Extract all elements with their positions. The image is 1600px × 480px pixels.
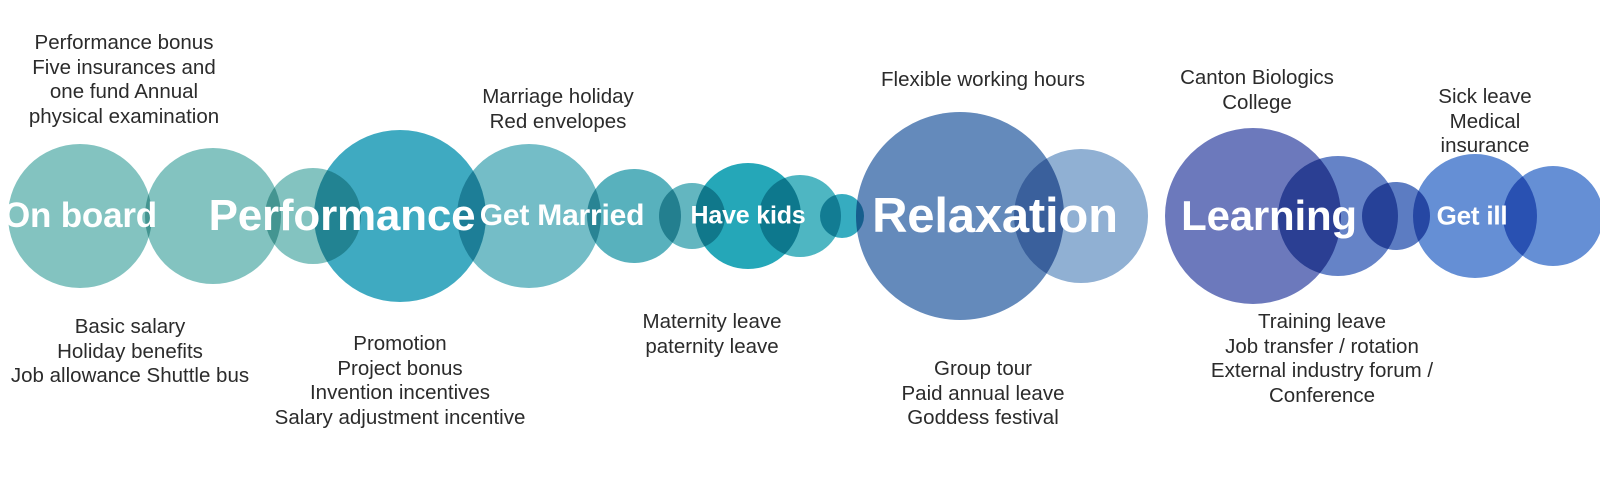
top-caption-learning: Canton Biologics College	[1180, 66, 1334, 115]
top-caption-relaxation: Flexible working hours	[881, 68, 1085, 93]
stage-label-on-board[interactable]: On board	[3, 196, 157, 236]
bottom-caption-relaxation: Group tour Paid annual leave Goddess fes…	[902, 357, 1065, 431]
bottom-caption-learning: Training leave Job transfer / rotation E…	[1183, 310, 1461, 408]
stage-label-get-married[interactable]: Get Married	[480, 199, 645, 233]
bottom-caption-on-board: Basic salary Holiday benefits Job allowa…	[11, 315, 249, 389]
top-caption-get-married: Marriage holiday Red envelopes	[482, 85, 634, 134]
bubble-ill-tail[interactable]	[1503, 166, 1600, 266]
bottom-caption-have-kids: Maternity leave paternity leave	[642, 310, 781, 359]
stage-label-get-ill[interactable]: Get ill	[1437, 201, 1508, 232]
stage-label-relaxation[interactable]: Relaxation	[872, 188, 1118, 244]
stage-label-have-kids[interactable]: Have kids	[691, 202, 806, 231]
stage-label-learning[interactable]: Learning	[1181, 192, 1357, 240]
top-caption-get-ill: Sick leave Medical insurance	[1428, 85, 1543, 159]
stage-label-performance[interactable]: Performance	[209, 191, 476, 241]
bottom-caption-performance: Promotion Project bonus Invention incent…	[275, 332, 526, 430]
infographic-canvas: On boardPerformanceGet MarriedHave kidsR…	[0, 0, 1600, 480]
top-caption-on-board: Performance bonus Five insurances and on…	[29, 31, 219, 129]
